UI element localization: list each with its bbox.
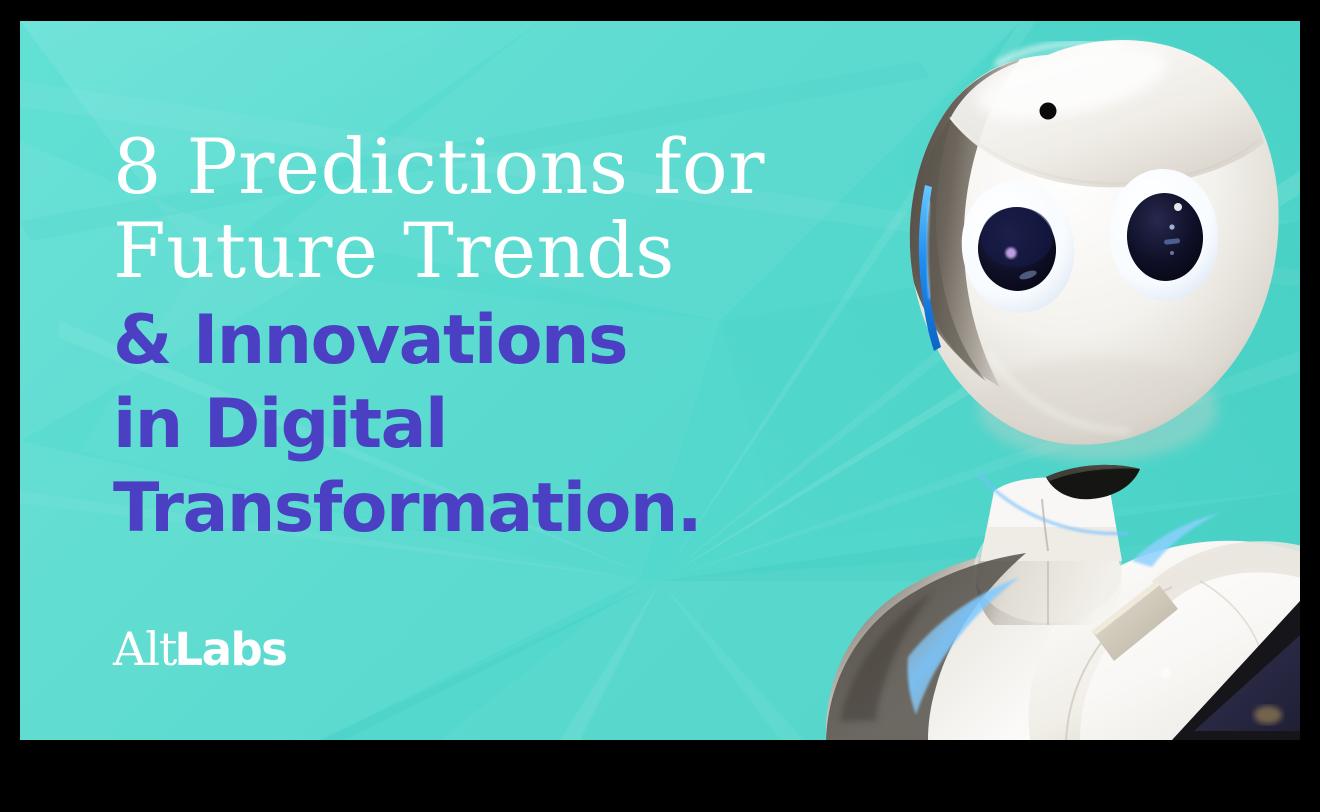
altlabs-logo: Alt Labs	[113, 626, 286, 672]
headline-line-1: 8 Predictions for	[113, 125, 873, 209]
promo-banner: pepper 8 Predictions for Future Trends &…	[20, 21, 1300, 740]
robot-torso	[826, 478, 1300, 741]
headline-block: 8 Predictions for Future Trends & Innova…	[113, 125, 873, 551]
logo-alt-text: Alt	[113, 626, 176, 672]
head-sensor-dot	[1040, 103, 1057, 120]
headline-line-4: in Digital	[113, 383, 873, 467]
headline-line-2: Future Trends	[113, 209, 873, 293]
headline-line-3: & Innovations	[113, 299, 873, 383]
logo-labs-text: Labs	[174, 627, 286, 672]
headline-line-5: Transformation.	[113, 467, 873, 551]
robot-head	[910, 34, 1279, 551]
screenshot-canvas: pepper 8 Predictions for Future Trends &…	[0, 0, 1320, 812]
